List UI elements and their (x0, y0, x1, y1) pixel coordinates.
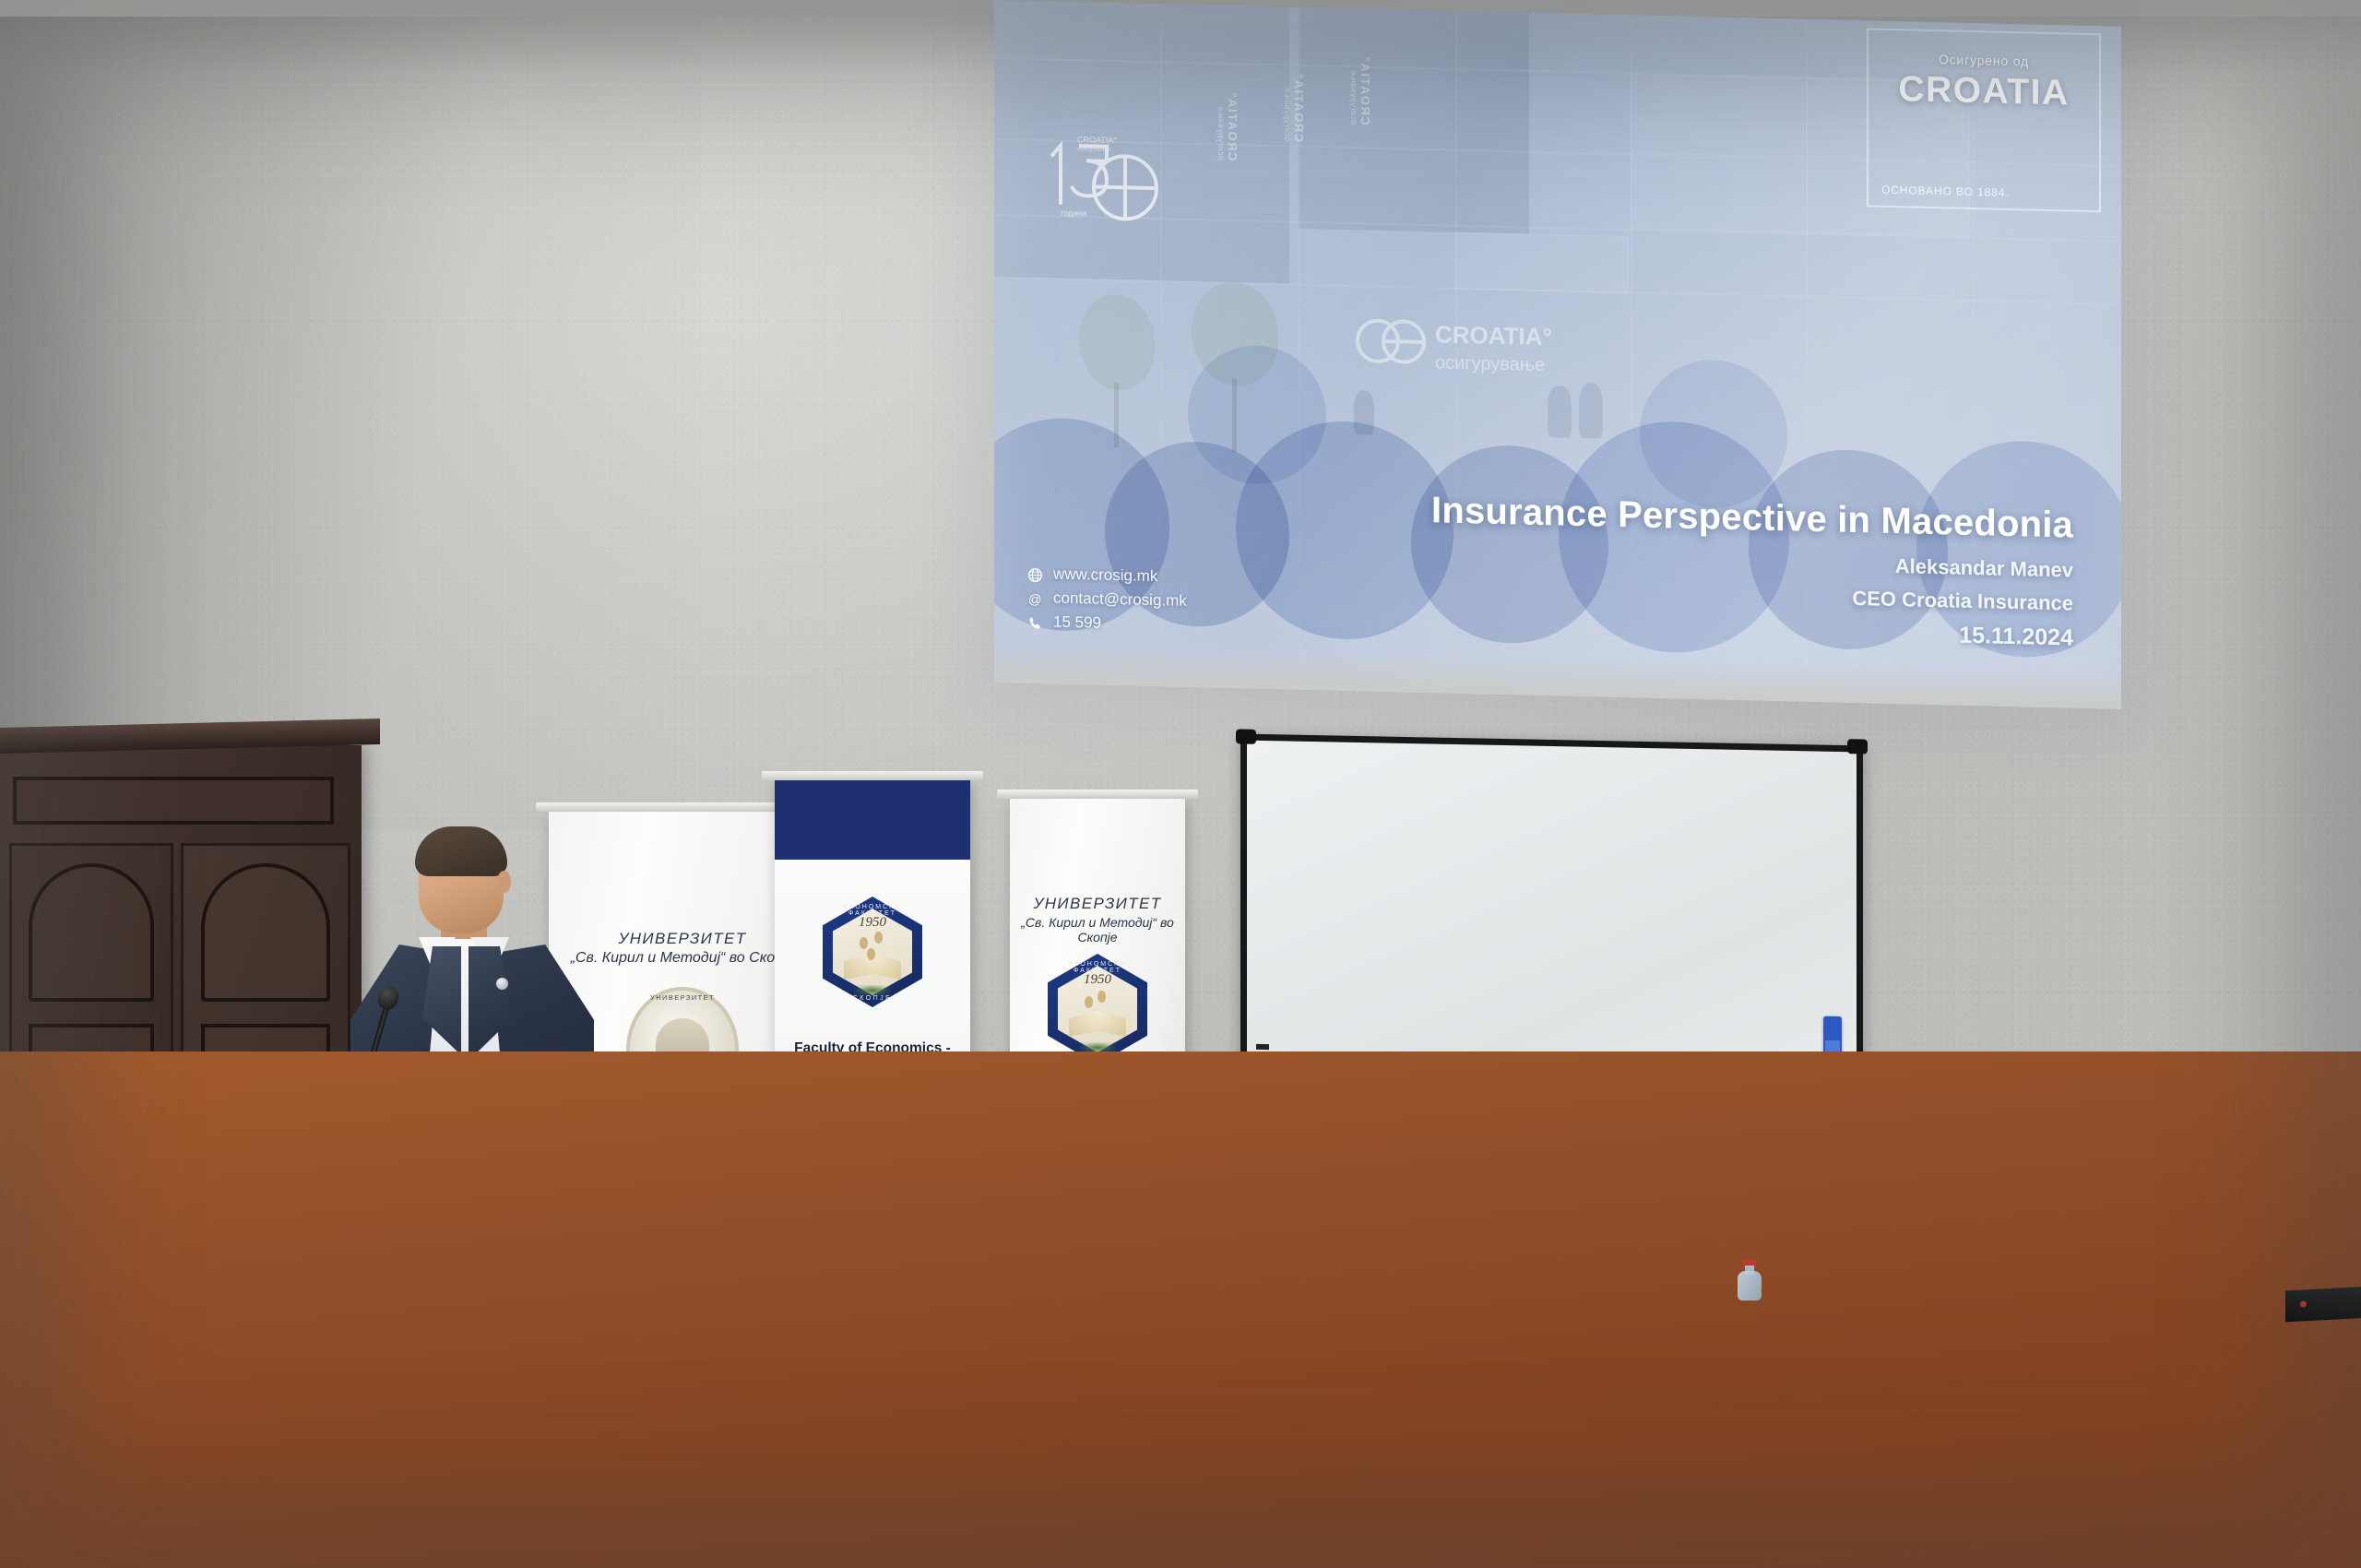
scene-vignette (0, 0, 2361, 1568)
conference-hall-scene: CROATIA° осигурување години CROATIA° оси… (0, 0, 2361, 1568)
